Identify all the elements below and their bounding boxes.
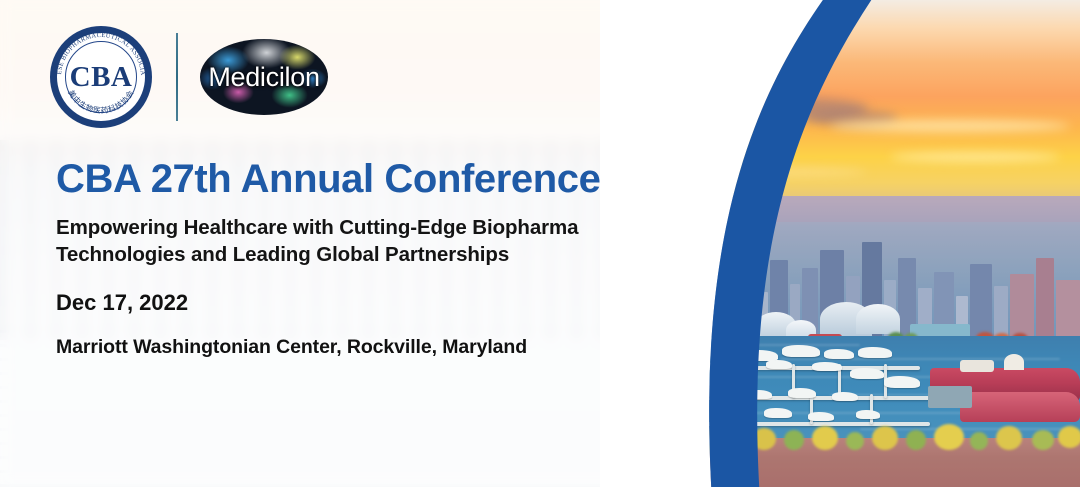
cloud [668, 168, 868, 176]
medicilon-logo[interactable]: Medicilon [200, 39, 328, 115]
waterfront-promenade [660, 438, 1080, 487]
subtitle-line-2: Technologies and Leading Global Partners… [56, 241, 656, 268]
banner-subtitle: Empowering Healthcare with Cutting-Edge … [56, 214, 656, 268]
logo-divider [176, 33, 178, 121]
sunset-sky [660, 0, 1080, 215]
event-date: Dec 17, 2022 [56, 290, 656, 316]
city-skyline [660, 196, 1080, 346]
harbor-sunset-photo [660, 0, 1080, 487]
banner-content: CBA 27th Annual Conference Empowering He… [56, 158, 656, 359]
cba-acronym: CBA [48, 24, 154, 130]
page-title: CBA 27th Annual Conference [56, 158, 656, 200]
cloud [890, 152, 1060, 162]
logo-row: CHINESE BIOPHARMACEUTICAL ASSOCIATION 美中… [48, 24, 328, 130]
cloud [722, 33, 780, 47]
medicilon-wordmark: Medicilon [200, 39, 328, 115]
cloud [752, 88, 804, 114]
event-venue: Marriott Washingtonian Center, Rockville… [56, 336, 656, 359]
cba-logo[interactable]: CHINESE BIOPHARMACEUTICAL ASSOCIATION 美中… [48, 24, 154, 130]
subtitle-line-1: Empowering Healthcare with Cutting-Edge … [56, 214, 656, 241]
cloud [830, 120, 1070, 132]
conference-banner: CHINESE BIOPHARMACEUTICAL ASSOCIATION 美中… [0, 0, 1080, 487]
